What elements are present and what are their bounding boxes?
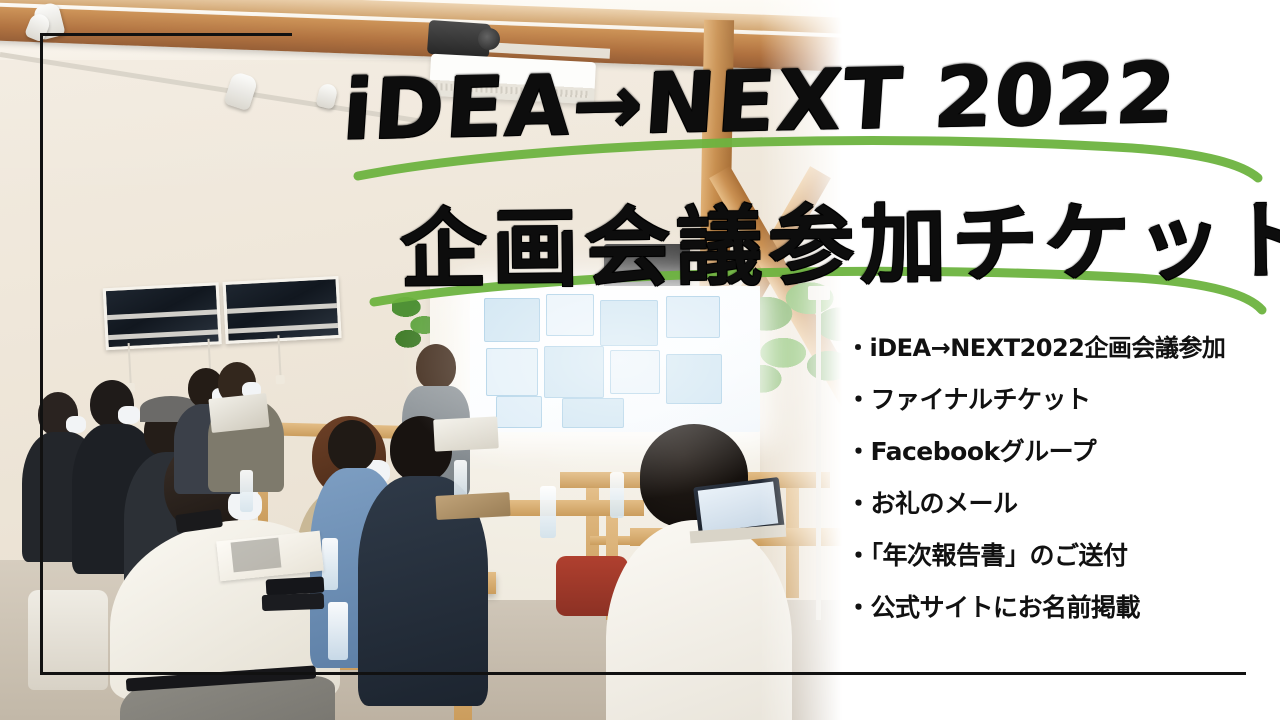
stand-clamp (808, 286, 830, 300)
high-window-group (103, 276, 346, 344)
benefit-item-4: ・お礼のメール (846, 491, 1276, 516)
laptop (433, 416, 499, 451)
water-bottle (328, 602, 348, 660)
equipment-stand (816, 290, 821, 620)
projection-screen (470, 290, 760, 432)
frame-line-left (40, 33, 43, 674)
high-window (223, 276, 342, 344)
water-bottle (240, 470, 253, 512)
frame-line-bottom (40, 672, 1246, 675)
event-photo (0, 0, 845, 720)
water-bottle (540, 486, 556, 538)
air-conditioner (429, 54, 596, 105)
benefit-item-3: ・Facebookグループ (846, 439, 1276, 464)
notebook (435, 492, 510, 520)
laptop (208, 393, 269, 433)
frame-line-top (40, 33, 292, 36)
benefits-list: ・iDEA→NEXT2022企画会議参加 ・ファイナルチケット ・Faceboo… (846, 336, 1276, 647)
smartphone (262, 593, 325, 611)
benefit-item-5: ・「年次報告書」のご送付 (846, 543, 1276, 568)
ticket-banner: iDEA→NEXT 2022 企画会議参加チケット ・iDEA→NEXT2022… (0, 0, 1280, 720)
benefit-item-1: ・iDEA→NEXT2022企画会議参加 (846, 336, 1276, 360)
high-window (103, 282, 222, 350)
benefit-item-2: ・ファイナルチケット (846, 387, 1276, 412)
water-bottle (322, 538, 338, 590)
document-photo (231, 538, 282, 573)
water-bottle (610, 472, 624, 518)
benefit-item-6: ・公式サイトにお名前掲載 (846, 595, 1276, 620)
